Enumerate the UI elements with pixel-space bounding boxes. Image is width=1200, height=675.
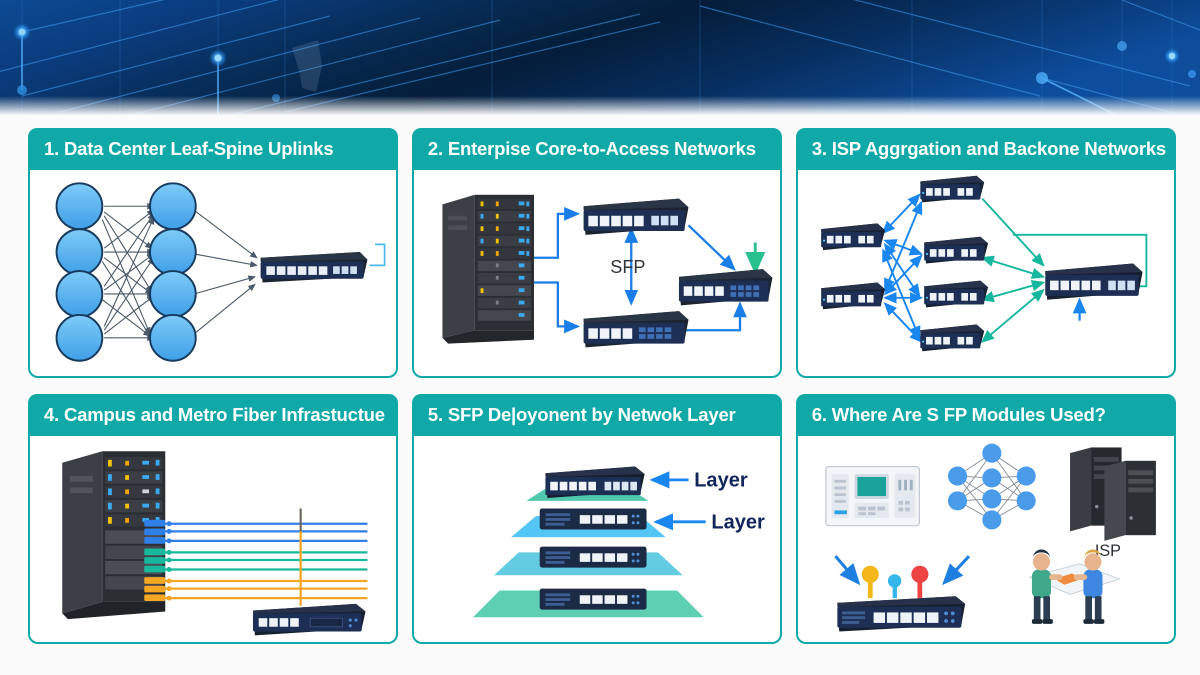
uplink-switch <box>261 252 368 283</box>
core-switch-tier1 <box>545 467 644 498</box>
teal-fiber-bundle <box>165 552 367 569</box>
sfp-use-cases-collage: ISP <box>798 436 1174 642</box>
right-callout-arrow <box>944 556 969 583</box>
edge-switch-left-bottom <box>821 283 885 310</box>
isp-server-towers <box>1070 447 1156 540</box>
left-callout-arrow <box>835 556 858 583</box>
isp-aggregation-diagram <box>798 170 1174 376</box>
teal-fiber-connectors <box>144 549 171 573</box>
edge-switch-mid-lower <box>924 281 988 308</box>
infographic-page: 1. Data Center Leaf-Spine Uplinks <box>0 0 1200 675</box>
two-technicians-illustration <box>1030 549 1120 623</box>
panel-1-body <box>28 170 398 378</box>
panel-1-title: 1. Data Center Leaf-Spine Uplinks <box>28 128 398 170</box>
panel-3-title: 3. ISP Aggrgation and Backone Networks <box>796 128 1176 170</box>
backbone-switch <box>1045 263 1142 299</box>
panel-4-title: 4. Campus and Metro Fiber Infrastuctue <box>28 394 398 436</box>
distribution-switch-tier2 <box>540 508 647 529</box>
layer-pyramid-diagram: Layer Layer <box>414 436 780 642</box>
orange-fiber-connectors <box>144 577 171 601</box>
panel-5-title: 5. SFP De|oyonent by Netwok Layer <box>412 394 782 436</box>
hero-banner <box>0 0 1200 118</box>
layer-label-second: Layer <box>711 512 765 534</box>
access-switch <box>679 269 772 305</box>
module-pins <box>861 566 928 598</box>
edge-switch-tier4 <box>540 589 647 610</box>
panel-where-sfp-used[interactable]: 6. Where Are S FP Modules Used? <box>796 394 1176 644</box>
core-switch-top <box>583 199 688 235</box>
panel-grid: 1. Data Center Leaf-Spine Uplinks <box>28 128 1176 644</box>
leaf-spine-diagram <box>30 170 396 376</box>
banner-bottom-fade <box>0 96 1200 118</box>
panel-layer-pyramid[interactable]: 5. SFP De|oyonent by Netwok Layer <box>412 394 782 644</box>
orange-fiber-bundle <box>165 581 367 598</box>
switch-with-modules <box>835 556 969 631</box>
panel-2-body: SFP <box>412 170 782 378</box>
edge-switch-left-top <box>821 223 885 250</box>
panel-2-title: 2. Enterpise Core-to-Access Networks <box>412 128 782 170</box>
panel-3-body <box>796 170 1176 378</box>
edge-switch-mid-upper <box>924 237 988 264</box>
layer-label-top: Layer <box>694 470 748 492</box>
panel-4-body <box>28 436 398 644</box>
spine-nodes <box>150 183 196 360</box>
panel-leaf-spine-uplinks[interactable]: 1. Data Center Leaf-Spine Uplinks <box>28 128 398 378</box>
blue-fiber-connectors <box>144 520 171 544</box>
panel-5-body: Layer Layer <box>412 436 782 644</box>
leaf-nodes <box>57 183 103 360</box>
core-switch-bottom <box>583 311 688 347</box>
panel-isp-aggregation[interactable]: 3. ISP Aggrgation and Backone Networks <box>796 128 1176 378</box>
edge-switch-top <box>920 176 984 203</box>
campus-switch <box>253 604 366 635</box>
campus-fiber-diagram <box>30 436 396 642</box>
panel-6-title: 6. Where Are S FP Modules Used? <box>796 394 1176 436</box>
core-to-access-diagram: SFP <box>414 170 780 376</box>
workstation-illustration <box>826 467 919 526</box>
blue-fiber-bundle <box>165 524 367 541</box>
panel-campus-metro-fiber[interactable]: 4. Campus and Metro Fiber Infrastuctue <box>28 394 398 644</box>
server-rack <box>442 195 534 344</box>
neural-network-graph <box>948 444 1036 530</box>
panel-6-body: ISP <box>796 436 1176 644</box>
edge-switch-bottom <box>920 325 984 352</box>
sfp-link-label: SFP <box>610 257 645 277</box>
access-switch-tier3 <box>540 547 647 568</box>
loopback-link <box>369 244 384 265</box>
panel-core-to-access[interactable]: 2. Enterpise Core-to-Access Networks <box>412 128 782 378</box>
